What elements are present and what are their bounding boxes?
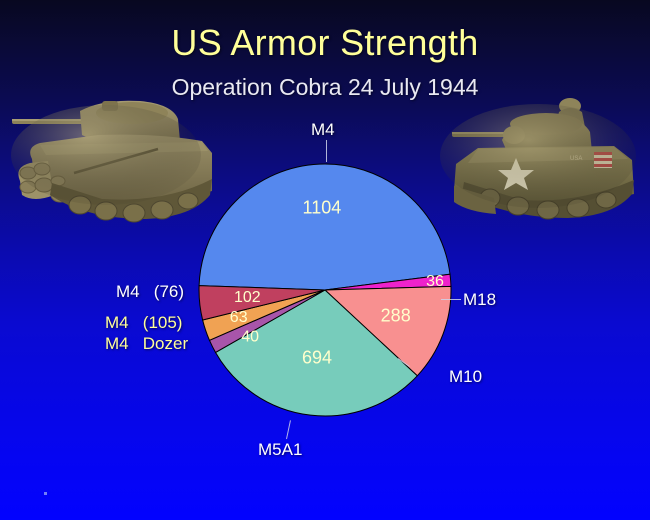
pie-value-m4-dozer: 40 — [241, 329, 259, 346]
corner-artifact-dot — [44, 492, 47, 495]
pie-value-m18: 36 — [426, 273, 444, 290]
slide-canvas: US Armor Strength Operation Cobra 24 Jul… — [0, 0, 650, 520]
leader-line-m18 — [441, 299, 461, 300]
pie-label-m4-105: M4 (105) — [105, 313, 182, 333]
sherman-m4-tank-photo — [6, 95, 224, 255]
pie-label-m5a1: M5A1 — [258, 440, 302, 460]
leader-line-m4 — [326, 140, 327, 162]
pie-label-m4-dozer: M4 Dozer — [105, 334, 188, 354]
stuart-m5a1-tank-photo: USA — [438, 90, 650, 252]
leader-line-m5a1 — [286, 420, 291, 439]
pie-value-m10: 288 — [381, 305, 411, 325]
pie-chart: 1104362886944063102 — [195, 160, 455, 420]
pie-slice-m4[interactable] — [199, 164, 450, 290]
page-title: US Armor Strength — [0, 22, 650, 64]
pie-label-m10: M10 — [449, 367, 482, 387]
pie-value-m4-76: 102 — [234, 289, 261, 306]
pie-value-m4: 1104 — [303, 198, 342, 218]
pie-label-m4-76: M4 (76) — [116, 282, 184, 302]
pie-value-m5a1: 694 — [302, 348, 332, 368]
pie-value-m4-105: 63 — [230, 309, 248, 326]
pie-label-m4: M4 — [311, 120, 335, 140]
pie-chart-svg: 1104362886944063102 — [195, 160, 455, 420]
pie-label-m18: M18 — [463, 290, 496, 310]
